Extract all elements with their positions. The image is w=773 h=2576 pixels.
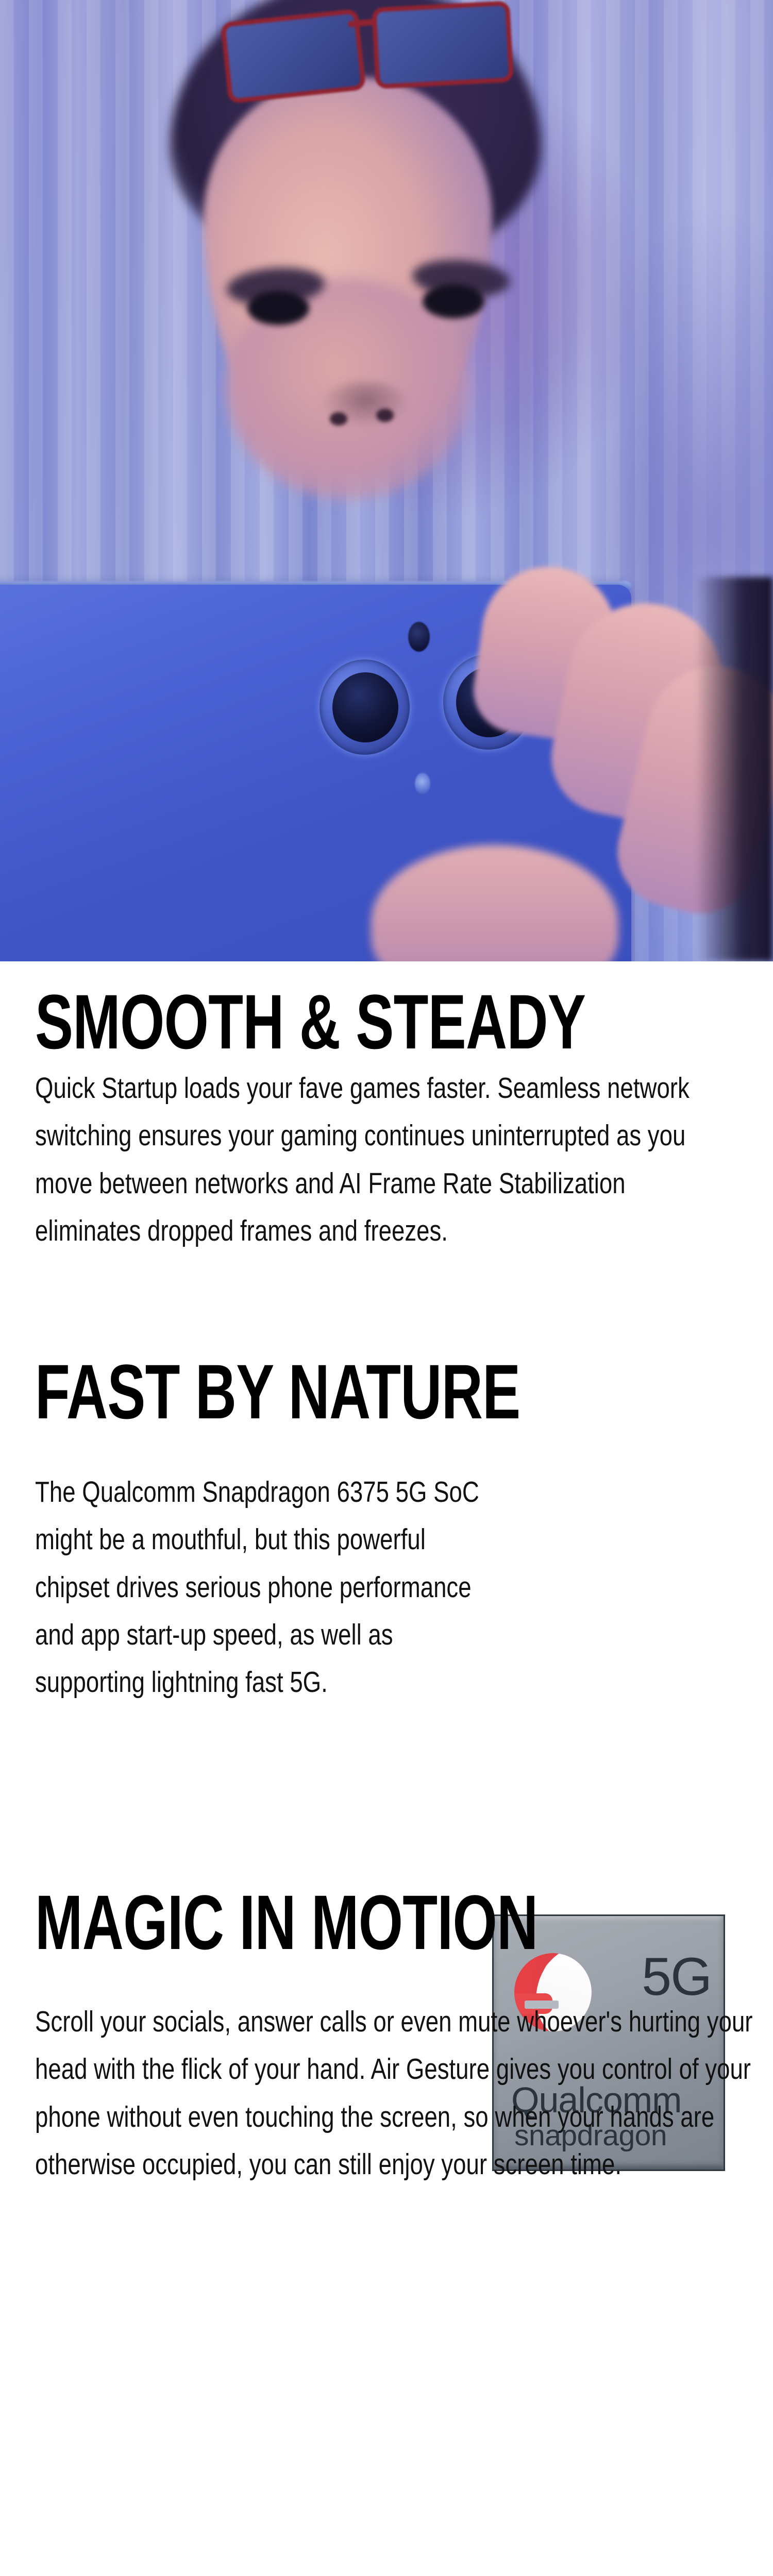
hero-image	[0, 0, 773, 961]
section-heading-magic-in-motion: MAGIC IN MOTION	[35, 1884, 537, 1961]
section-body-smooth-and-steady: Quick Startup loads your fave games fast…	[35, 1064, 736, 1255]
section-heading-fast-by-nature: FAST BY NATURE	[35, 1353, 520, 1430]
hero-eye-left	[247, 291, 309, 325]
hero-camera-mic	[415, 773, 430, 794]
hero-camera-flash	[408, 622, 430, 652]
hero-camera-lens-1	[332, 672, 398, 742]
sunglasses-icon	[204, 0, 564, 121]
section-heading-smooth-and-steady: SMOOTH & STEADY	[35, 983, 585, 1060]
sunglasses-lens-right	[372, 1, 514, 89]
section-body-magic-in-motion: Scroll your socials, answer calls or eve…	[35, 1998, 773, 2188]
sunglasses-lens-left	[220, 8, 366, 104]
chip-5g-badge: 5G	[642, 1950, 711, 2004]
snapdragon-logo-notch	[525, 2001, 559, 2009]
hero-eye-right	[423, 284, 484, 318]
hero-vignette-right	[696, 577, 773, 961]
hero-nostril-left	[330, 412, 347, 426]
hero-nostril-right	[376, 409, 394, 422]
section-body-fast-by-nature: The Qualcomm Snapdragon 6375 5G SoC migh…	[35, 1468, 497, 1706]
